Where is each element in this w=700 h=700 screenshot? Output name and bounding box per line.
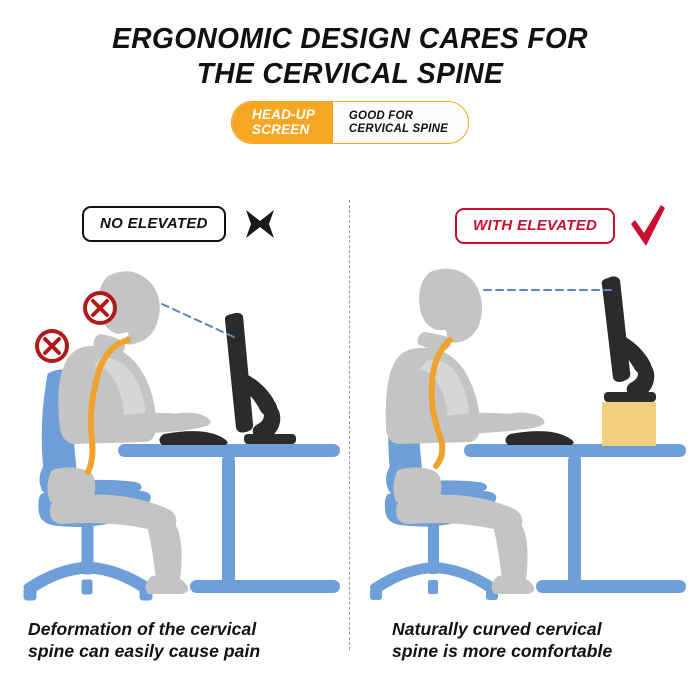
title-line-1: ERGONOMIC DESIGN CARES FOR — [11, 22, 690, 57]
panel-divider — [349, 200, 350, 650]
warning-x-badge-neck — [85, 293, 115, 323]
figure-with-elevated — [368, 262, 688, 602]
badge-right-line-2: CERVICAL SPINE — [349, 123, 448, 136]
right-panel-caption: Naturally curved cervical spine is more … — [392, 618, 692, 662]
monitor-riser-block — [602, 402, 656, 446]
left-caption-line-2: spine can easily cause pain — [28, 640, 328, 662]
keyboard — [505, 431, 573, 445]
x-mark-icon — [240, 204, 280, 244]
with-elevated-label: WITH ELEVATED — [473, 217, 597, 234]
badge-left-segment: HEAD-UP SCREEN — [232, 102, 333, 143]
badge-left-line-1: HEAD-UP — [252, 108, 315, 123]
badge-right-line-1: GOOD FOR — [349, 110, 448, 123]
keyboard — [159, 431, 227, 445]
with-elevated-label-box: WITH ELEVATED — [455, 208, 615, 244]
badge-left-line-2: SCREEN — [252, 123, 315, 138]
sight-line — [162, 304, 236, 338]
feature-badge: HEAD-UP SCREEN GOOD FOR CERVICAL SPINE — [231, 101, 469, 144]
check-mark-icon — [629, 204, 669, 248]
computer-monitor — [225, 313, 296, 444]
left-caption-line-1: Deformation of the cervical — [28, 618, 328, 640]
right-panel-label-row: WITH ELEVATED — [455, 204, 669, 248]
warning-x-badge-back — [37, 331, 67, 361]
computer-monitor — [602, 276, 656, 402]
badge-container: HEAD-UP SCREEN GOOD FOR CERVICAL SPINE — [0, 101, 700, 144]
page-title: ERGONOMIC DESIGN CARES FOR THE CERVICAL … — [0, 22, 700, 93]
no-elevated-label-box: NO ELEVATED — [82, 206, 226, 242]
right-caption-line-2: spine is more comfortable — [392, 640, 692, 662]
right-caption-line-1: Naturally curved cervical — [392, 618, 692, 640]
seated-person — [386, 269, 545, 594]
badge-right-segment: GOOD FOR CERVICAL SPINE — [333, 102, 468, 143]
title-line-2: THE CERVICAL SPINE — [11, 57, 690, 92]
left-panel-caption: Deformation of the cervical spine can ea… — [28, 618, 328, 662]
infographic-page: ERGONOMIC DESIGN CARES FOR THE CERVICAL … — [0, 0, 700, 700]
figure-no-elevated — [22, 262, 342, 602]
no-elevated-label: NO ELEVATED — [100, 215, 208, 232]
left-panel-label-row: NO ELEVATED — [82, 204, 280, 244]
